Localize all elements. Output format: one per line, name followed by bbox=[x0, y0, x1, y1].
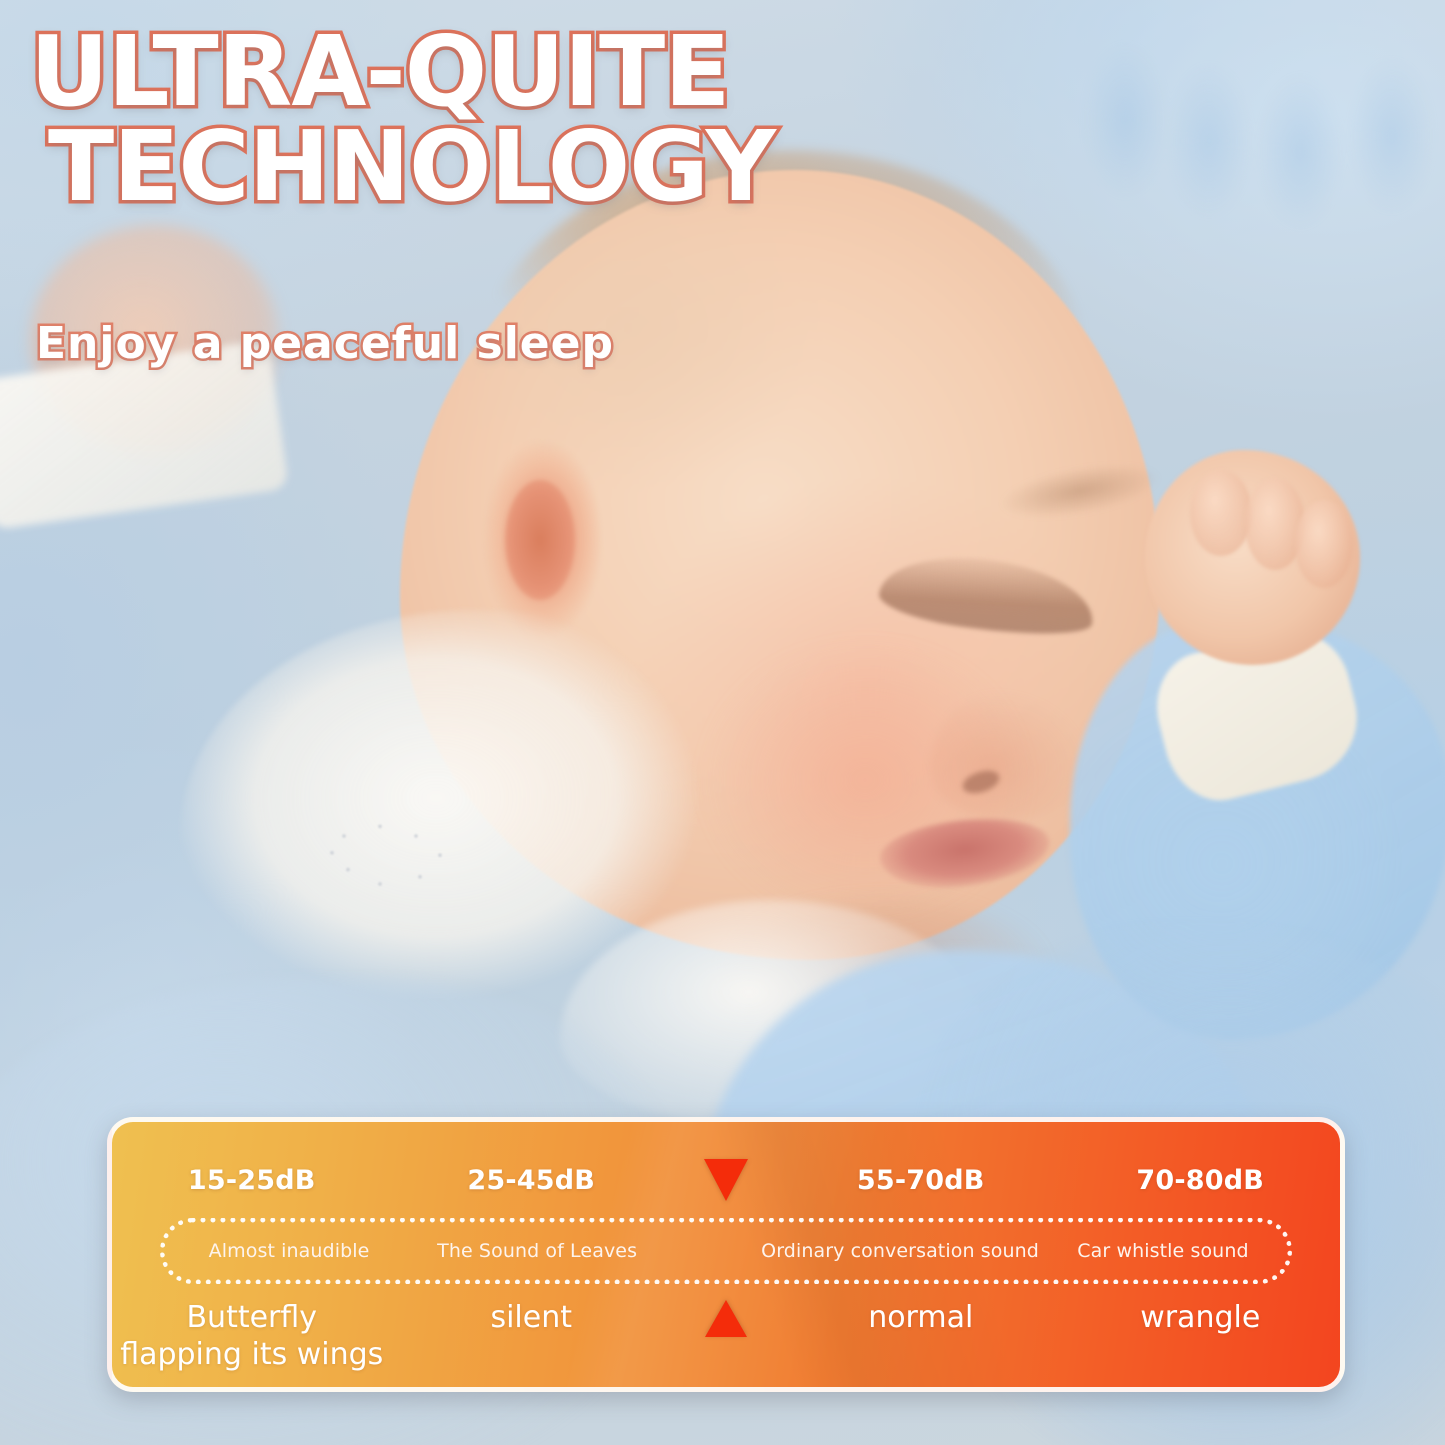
marker-down-cell bbox=[671, 1158, 781, 1202]
plain-label-1-line-1: silent bbox=[490, 1300, 572, 1337]
plain-label-0: Butterfly flapping its wings bbox=[112, 1298, 392, 1390]
description-3: Car whistle sound bbox=[1039, 1240, 1287, 1262]
baby-finger bbox=[1295, 500, 1353, 588]
blanket-ruffle bbox=[1080, 0, 1445, 250]
description-1: The Sound of Leaves bbox=[413, 1240, 661, 1262]
description-0: Almost inaudible bbox=[165, 1240, 413, 1262]
page-title: ULTRA-QUITE TECHNOLOGY bbox=[30, 24, 1030, 214]
decibel-scale-panel: 15-25dB 25-45dB 55-70dB 70-80dB Almost i… bbox=[107, 1117, 1345, 1392]
decibel-range-1: 25-45dB bbox=[392, 1158, 672, 1202]
product-poster: ULTRA-QUITE TECHNOLOGY Enjoy a peaceful … bbox=[0, 0, 1445, 1445]
page-subtitle: Enjoy a peaceful sleep bbox=[36, 318, 614, 369]
page-title-line-2: TECHNOLOGY bbox=[30, 119, 1030, 214]
decibel-range-2: 55-70dB bbox=[781, 1158, 1061, 1202]
description-capsule: Almost inaudible The Sound of Leaves Ord… bbox=[160, 1218, 1292, 1284]
decibel-range-3: 70-80dB bbox=[1061, 1158, 1341, 1202]
marker-up-cell bbox=[671, 1298, 781, 1390]
plain-label-row: Butterfly flapping its wings silent norm… bbox=[112, 1298, 1340, 1390]
description-2: Ordinary conversation sound bbox=[761, 1240, 1039, 1262]
plain-label-2: normal bbox=[781, 1298, 1061, 1390]
decibel-range-row: 15-25dB 25-45dB 55-70dB 70-80dB bbox=[112, 1158, 1340, 1202]
plain-label-3: wrangle bbox=[1061, 1298, 1341, 1390]
plain-label-2-line-1: normal bbox=[868, 1300, 973, 1337]
plain-label-0-line-2: flapping its wings bbox=[120, 1337, 383, 1374]
plain-label-0-line-1: Butterfly bbox=[120, 1300, 383, 1337]
decibel-range-0: 15-25dB bbox=[112, 1158, 392, 1202]
plain-label-1: silent bbox=[392, 1298, 672, 1390]
baby-ear-inner bbox=[505, 480, 575, 600]
triangle-up-icon bbox=[705, 1300, 747, 1337]
baby-finger bbox=[1190, 470, 1252, 556]
plain-label-3-line-1: wrangle bbox=[1140, 1300, 1260, 1337]
headline-block: ULTRA-QUITE TECHNOLOGY bbox=[30, 24, 1030, 214]
triangle-down-icon bbox=[704, 1159, 748, 1201]
lace-embroidery bbox=[300, 800, 500, 920]
